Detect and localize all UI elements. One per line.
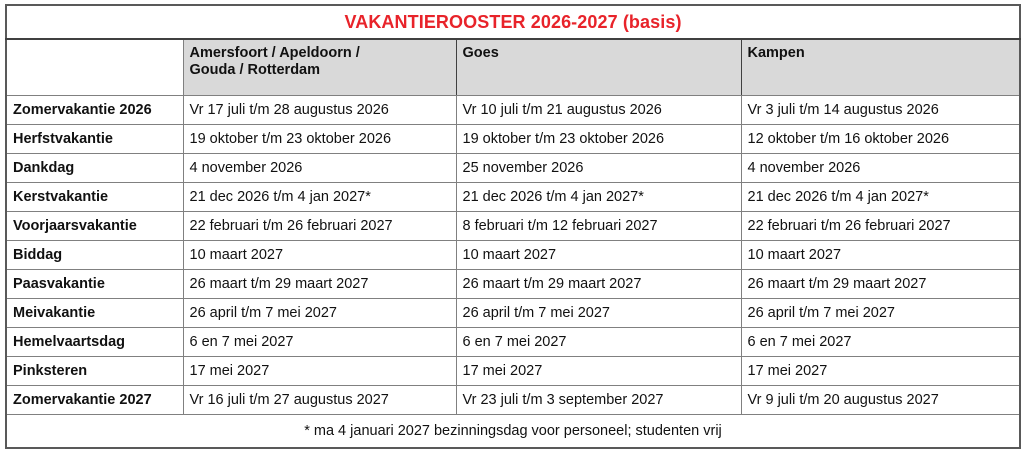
- row-value-goes: 25 november 2026: [456, 154, 741, 183]
- row-label: Hemelvaartsdag: [6, 328, 183, 357]
- row-label: Kerstvakantie: [6, 183, 183, 212]
- row-value-kampen: 17 mei 2027: [741, 357, 1020, 386]
- row-value-goes: Vr 23 juli t/m 3 september 2027: [456, 386, 741, 415]
- table-row: Hemelvaartsdag 6 en 7 mei 2027 6 en 7 me…: [6, 328, 1020, 357]
- column-header-row: Amersfoort / Apeldoorn / Gouda / Rotterd…: [6, 39, 1020, 96]
- row-value-goes: 8 februari t/m 12 februari 2027: [456, 212, 741, 241]
- row-value-kampen: 12 oktober t/m 16 oktober 2026: [741, 125, 1020, 154]
- header-line-1: Goes: [463, 45, 735, 62]
- header-cell-kampen: Kampen: [741, 39, 1020, 96]
- header-corner-cell: [6, 39, 183, 96]
- row-value-amersfoort: Vr 16 juli t/m 27 augustus 2027: [183, 386, 456, 415]
- page-container: VAKANTIEROOSTER 2026-2027 (basis) Amersf…: [0, 0, 1024, 444]
- schedule-table-body: VAKANTIEROOSTER 2026-2027 (basis) Amersf…: [6, 5, 1020, 448]
- table-row: Paasvakantie 26 maart t/m 29 maart 2027 …: [6, 270, 1020, 299]
- row-value-amersfoort: 6 en 7 mei 2027: [183, 328, 456, 357]
- table-row: Zomervakantie 2026 Vr 17 juli t/m 28 aug…: [6, 96, 1020, 125]
- row-label: Biddag: [6, 241, 183, 270]
- row-value-amersfoort: 26 april t/m 7 mei 2027: [183, 299, 456, 328]
- table-row: Herfstvakantie 19 oktober t/m 23 oktober…: [6, 125, 1020, 154]
- footnote-row: * ma 4 januari 2027 bezinningsdag voor p…: [6, 415, 1020, 449]
- row-value-kampen: 26 maart t/m 29 maart 2027: [741, 270, 1020, 299]
- table-row: Kerstvakantie 21 dec 2026 t/m 4 jan 2027…: [6, 183, 1020, 212]
- row-value-goes: 26 maart t/m 29 maart 2027: [456, 270, 741, 299]
- row-value-kampen: 22 februari t/m 26 februari 2027: [741, 212, 1020, 241]
- row-label: Pinksteren: [6, 357, 183, 386]
- row-value-amersfoort: 17 mei 2027: [183, 357, 456, 386]
- row-value-kampen: 6 en 7 mei 2027: [741, 328, 1020, 357]
- footnote-text: * ma 4 januari 2027 bezinningsdag voor p…: [6, 415, 1020, 449]
- row-label: Dankdag: [6, 154, 183, 183]
- row-value-kampen: 21 dec 2026 t/m 4 jan 2027*: [741, 183, 1020, 212]
- row-value-goes: 17 mei 2027: [456, 357, 741, 386]
- page-title: VAKANTIEROOSTER 2026-2027 (basis): [344, 12, 681, 32]
- row-value-kampen: Vr 3 juli t/m 14 augustus 2026: [741, 96, 1020, 125]
- title-cell: VAKANTIEROOSTER 2026-2027 (basis): [6, 5, 1020, 39]
- table-row: Pinksteren 17 mei 2027 17 mei 2027 17 me…: [6, 357, 1020, 386]
- header-line-1: Amersfoort / Apeldoorn /: [190, 45, 450, 62]
- table-row: Biddag 10 maart 2027 10 maart 2027 10 ma…: [6, 241, 1020, 270]
- row-value-goes: Vr 10 juli t/m 21 augustus 2026: [456, 96, 741, 125]
- row-value-goes: 10 maart 2027: [456, 241, 741, 270]
- table-row: Dankdag 4 november 2026 25 november 2026…: [6, 154, 1020, 183]
- table-row: Meivakantie 26 april t/m 7 mei 2027 26 a…: [6, 299, 1020, 328]
- row-label: Paasvakantie: [6, 270, 183, 299]
- row-value-goes: 21 dec 2026 t/m 4 jan 2027*: [456, 183, 741, 212]
- row-value-goes: 19 oktober t/m 23 oktober 2026: [456, 125, 741, 154]
- row-value-amersfoort: 22 februari t/m 26 februari 2027: [183, 212, 456, 241]
- row-value-kampen: 26 april t/m 7 mei 2027: [741, 299, 1020, 328]
- vacation-schedule-table: VAKANTIEROOSTER 2026-2027 (basis) Amersf…: [5, 4, 1021, 449]
- row-value-amersfoort: Vr 17 juli t/m 28 augustus 2026: [183, 96, 456, 125]
- row-value-kampen: 10 maart 2027: [741, 241, 1020, 270]
- row-value-kampen: 4 november 2026: [741, 154, 1020, 183]
- row-value-goes: 26 april t/m 7 mei 2027: [456, 299, 741, 328]
- table-row: Zomervakantie 2027 Vr 16 juli t/m 27 aug…: [6, 386, 1020, 415]
- row-value-amersfoort: 19 oktober t/m 23 oktober 2026: [183, 125, 456, 154]
- row-value-goes: 6 en 7 mei 2027: [456, 328, 741, 357]
- header-line-1: Kampen: [748, 45, 1014, 62]
- row-value-amersfoort: 21 dec 2026 t/m 4 jan 2027*: [183, 183, 456, 212]
- table-row: Voorjaarsvakantie 22 februari t/m 26 feb…: [6, 212, 1020, 241]
- row-value-amersfoort: 4 november 2026: [183, 154, 456, 183]
- title-row: VAKANTIEROOSTER 2026-2027 (basis): [6, 5, 1020, 39]
- row-value-amersfoort: 26 maart t/m 29 maart 2027: [183, 270, 456, 299]
- row-label: Zomervakantie 2027: [6, 386, 183, 415]
- row-label: Voorjaarsvakantie: [6, 212, 183, 241]
- header-cell-goes: Goes: [456, 39, 741, 96]
- row-value-kampen: Vr 9 juli t/m 20 augustus 2027: [741, 386, 1020, 415]
- header-line-2: Gouda / Rotterdam: [190, 62, 450, 79]
- row-value-amersfoort: 10 maart 2027: [183, 241, 456, 270]
- row-label: Meivakantie: [6, 299, 183, 328]
- header-cell-amersfoort-apeldoorn-gouda-rotterdam: Amersfoort / Apeldoorn / Gouda / Rotterd…: [183, 39, 456, 96]
- row-label: Herfstvakantie: [6, 125, 183, 154]
- row-label: Zomervakantie 2026: [6, 96, 183, 125]
